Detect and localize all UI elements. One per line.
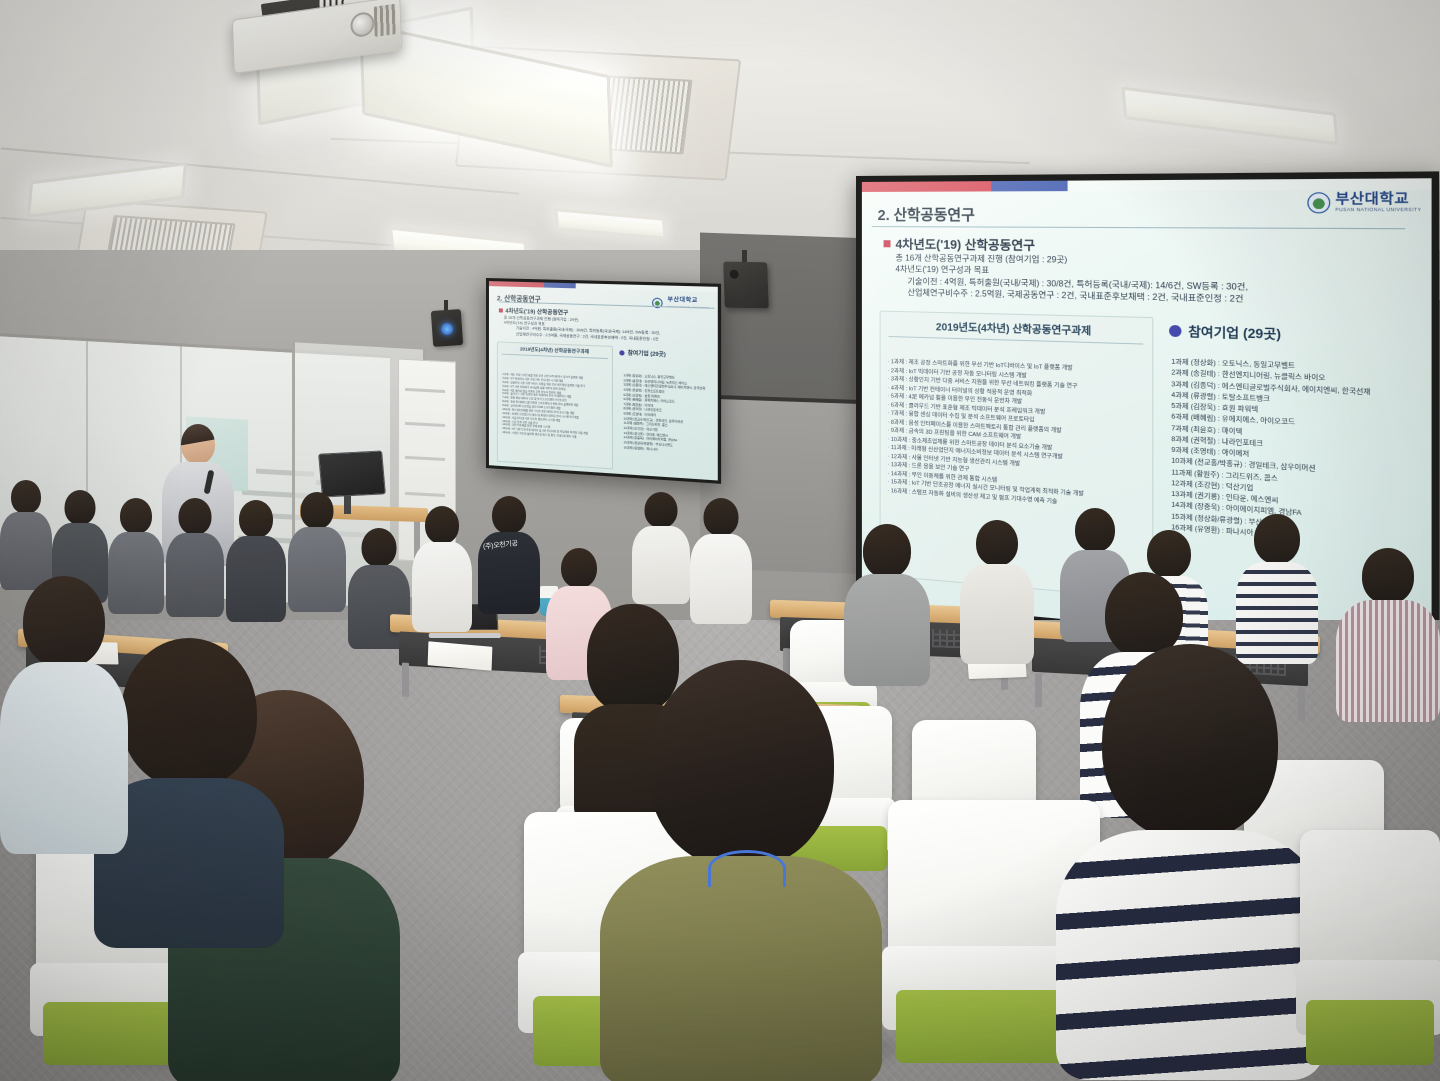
attendee-body <box>1056 830 1324 1080</box>
attendee-head <box>120 498 152 534</box>
attendee-head <box>65 490 96 525</box>
attendee <box>412 506 472 630</box>
projector-lens <box>350 11 375 38</box>
presenter-head <box>181 424 215 464</box>
companies-list: 1과제 (정상화) : 오토닉스, 동일고무벨트 2과제 (송길태) : 한선엔… <box>617 373 715 455</box>
attendee-head <box>704 498 739 536</box>
attendee-head <box>492 496 526 534</box>
attendee-head <box>1075 508 1115 552</box>
attendee <box>226 500 286 620</box>
attendee <box>690 498 752 622</box>
slide-content: 부산대학교 PUSAN NATIONAL UNIVERSITY 2. 산학공동연… <box>489 281 718 480</box>
slide-title: 2. 산학공동연구 <box>878 204 975 226</box>
lanyard-icon <box>708 850 786 887</box>
podium-monitor <box>318 450 386 497</box>
attendee-body <box>0 662 128 854</box>
chair[interactable] <box>1300 830 1440 1080</box>
attendee-body <box>226 536 286 622</box>
board-line <box>405 422 445 427</box>
attendee-head <box>239 500 273 538</box>
attendee-head <box>561 548 597 588</box>
accent-blue <box>544 282 575 288</box>
attendee-in-uniform: (주)오천기공 <box>478 496 540 612</box>
logo-english-text: PUSAN NATIONAL UNIVERSITY <box>1335 208 1421 213</box>
accent-blue <box>991 181 1067 192</box>
attendee-body <box>960 564 1034 664</box>
attendee-head <box>11 480 41 514</box>
attendee-head <box>1254 514 1300 564</box>
accent-red <box>489 281 544 287</box>
attendee-foreground <box>600 660 882 1080</box>
attendee-head <box>863 524 911 578</box>
slide-section-heading: 4차년도('19) 산학공동연구 <box>884 234 1036 254</box>
attendee-head <box>1362 548 1414 604</box>
slide-accent-bar <box>489 281 718 292</box>
attendee-head <box>301 492 334 529</box>
attendee-body <box>690 534 752 624</box>
board-line <box>405 456 445 461</box>
attendee-head <box>179 498 212 535</box>
attendee-head <box>362 528 397 567</box>
chair-seat <box>1306 1000 1435 1065</box>
accent-red <box>862 181 991 192</box>
slide-accent-bar <box>862 178 1432 192</box>
attendee <box>0 480 52 588</box>
companies-panel-side: 참여기업 (29곳) 1과제 (정상화) : 오토닉스, 동일고무벨트 2과제 … <box>617 346 715 474</box>
attendee-body <box>412 542 472 632</box>
attendee-foreground <box>1056 644 1324 1074</box>
attendee-head <box>23 576 105 668</box>
logo-korean-text: 부산대학교 <box>667 299 709 306</box>
speaker-driver <box>729 270 738 279</box>
attendee-head <box>425 506 459 544</box>
slide-bullets: 총 16개 산학공동연구과제 진행 (참여기업 : 29곳) 4차년도('19)… <box>895 252 1408 309</box>
attendee <box>0 576 128 848</box>
title-rule <box>872 226 1406 229</box>
tasks-list: 1과제 : 제조 공정 스마트화를 위한 무선 기반 IoT디바이스 및 IoT… <box>498 371 612 442</box>
logo-korean-text: 부산대학교 <box>1335 192 1421 206</box>
companies-heading: 참여기업 (29곳) <box>619 348 715 360</box>
wall-speaker-icon <box>723 262 769 309</box>
attendee <box>960 520 1034 660</box>
accent-rest <box>575 283 717 292</box>
attendee-body <box>166 533 224 617</box>
attendee <box>288 492 346 610</box>
status-led-icon <box>441 323 454 336</box>
board-line <box>405 492 445 497</box>
attendee <box>166 498 224 614</box>
projector-vent <box>374 4 397 37</box>
companies-heading: 참여기업 (29곳) <box>1169 322 1421 347</box>
attendee-head <box>976 520 1018 566</box>
attendee-head <box>121 638 257 788</box>
attendee <box>632 492 690 602</box>
laptop-base <box>428 633 501 638</box>
seminar-room-photo: 부산대학교 PUSAN NATIONAL UNIVERSITY 2. 산학공동연… <box>0 0 1440 1081</box>
bullet-circle-icon <box>619 350 624 355</box>
attendee-body <box>1336 600 1440 722</box>
tasks-list: 1과제 : 제조 공정 스마트화를 위한 무선 기반 IoT디바이스 및 IoT… <box>881 353 1153 513</box>
university-logo: 부산대학교 PUSAN NATIONAL UNIVERSITY <box>1308 192 1422 214</box>
projection-screen-secondary: 부산대학교 PUSAN NATIONAL UNIVERSITY 2. 산학공동연… <box>486 278 721 484</box>
attendee-head <box>648 660 834 868</box>
tasks-panel-title: 2019년도(4차년) 산학공동연구과제 <box>889 312 1144 345</box>
attendee-body <box>288 527 346 612</box>
desk-leg <box>402 663 409 697</box>
bullet-square-icon <box>884 240 891 247</box>
attendee <box>1336 548 1440 718</box>
tasks-panel-title: 2019년도(4차년) 산학공동연구과제 <box>502 343 608 359</box>
attendee <box>844 524 930 680</box>
tasks-panel-side: 2019년도(4차년) 산학공동연구과제 1과제 : 제조 공정 스마트화를 위… <box>497 341 613 469</box>
university-seal-icon <box>1308 192 1331 213</box>
attendee-body <box>632 526 690 604</box>
accent-rest <box>1067 178 1431 191</box>
attendee-head <box>1147 530 1191 578</box>
attendee-head <box>645 492 678 528</box>
desk-leg <box>1035 673 1042 707</box>
attendee-body <box>600 856 882 1081</box>
bullet-square-icon <box>499 309 502 313</box>
slide-bullets-side: 총 16개 산학공동연구과제 진행 (참여기업 : 29곳) 4차년도('19)… <box>504 316 712 345</box>
companies-heading-text: 참여기업 (29곳) <box>628 349 666 359</box>
companies-heading-text: 참여기업 (29곳) <box>1188 322 1281 343</box>
board-line <box>405 388 445 393</box>
attendee-head <box>1102 644 1278 840</box>
attendee <box>1236 514 1318 660</box>
wall-speaker-icon <box>431 309 463 347</box>
section-heading-text: 4차년도('19) 산학공동연구 <box>895 234 1035 254</box>
bullet-circle-icon <box>1169 325 1181 337</box>
